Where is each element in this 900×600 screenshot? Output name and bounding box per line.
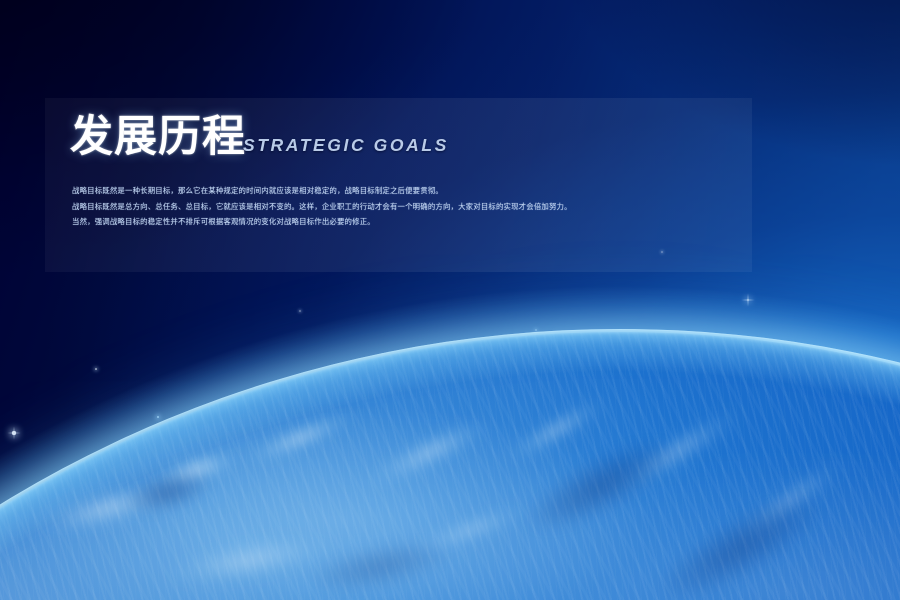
body-line: 当然，强调战略目标的稳定性并不排斥可根据客观情况的变化对战略目标作出必要的修正。 <box>72 214 752 230</box>
landmass-shadow <box>119 463 217 521</box>
body-line: 战略目标既然是总方向、总任务、总目标，它就应该是相对不变的。这样，企业职工的行动… <box>72 199 752 215</box>
body-paragraph: 战略目标既然是一种长期目标，那么它在某种规定的时间内就应该是相对稳定的，战略目标… <box>72 183 752 230</box>
landmass-shadow <box>513 423 688 549</box>
page-title-chinese: 发展历程 <box>70 116 246 159</box>
landmass-shadow <box>644 476 837 600</box>
earth-landmass-layer <box>0 0 900 600</box>
heading-row: 发展历程 STRATEGIC GOALS <box>70 116 449 159</box>
page-subtitle-english: STRATEGIC GOALS <box>243 135 449 159</box>
earth-globe <box>0 0 900 600</box>
hero-banner: 发展历程 STRATEGIC GOALS 战略目标既然是一种长期目标，那么它在某… <box>0 0 900 600</box>
body-line: 战略目标既然是一种长期目标，那么它在某种规定的时间内就应该是相对稳定的，战略目标… <box>72 183 752 199</box>
landmass-shadow <box>302 531 457 600</box>
translucent-content-panel: 发展历程 STRATEGIC GOALS 战略目标既然是一种长期目标，那么它在某… <box>45 98 752 272</box>
